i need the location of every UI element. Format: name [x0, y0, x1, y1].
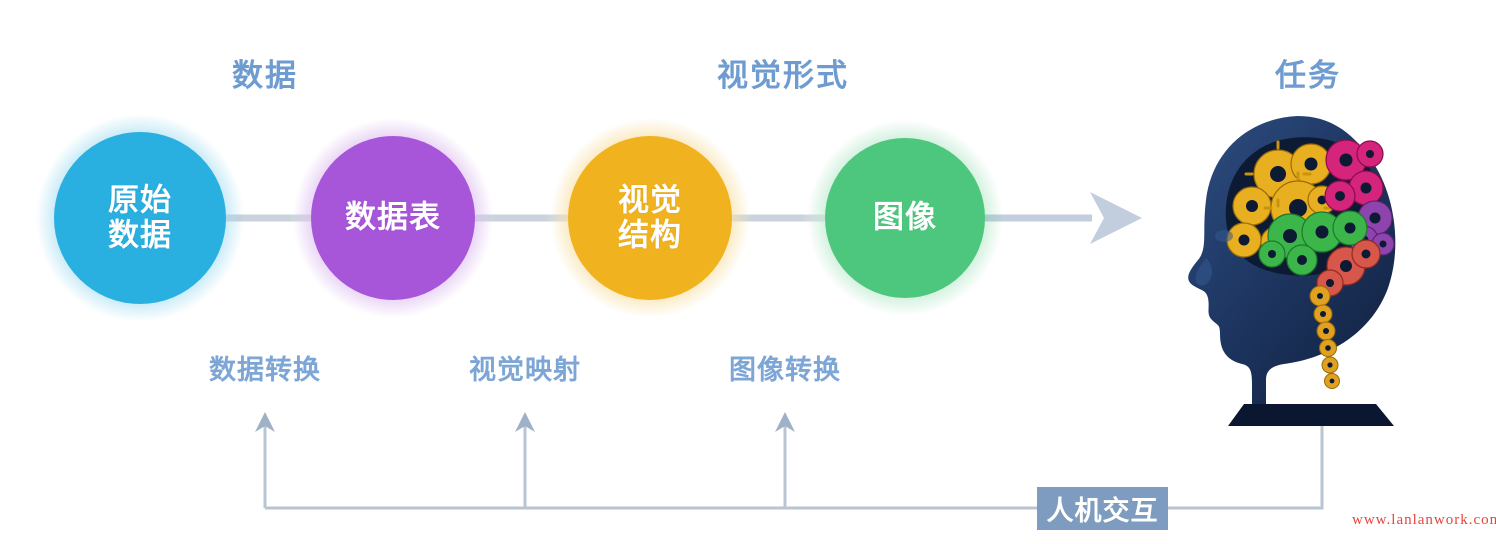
phase-label-task: 任务: [1275, 50, 1341, 95]
node-label-raw-data: 原始 数据: [108, 183, 172, 252]
transform-label-data-transform: 数据转换: [209, 348, 321, 387]
diagram-canvas: 数据 视觉形式 任务 原始 数据 数据表 视觉 结构 图像 数据转换 视觉映射 …: [0, 0, 1496, 544]
interaction-chip[interactable]: 人机交互: [1037, 487, 1168, 530]
node-label-visual-structure: 视觉 结构: [618, 183, 682, 252]
transform-label-visual-mapping: 视觉映射: [469, 348, 581, 387]
human-head-with-gear-brain-icon: [1180, 108, 1430, 428]
node-label-data-table: 数据表: [345, 201, 441, 236]
phase-label-visual-form: 视觉形式: [717, 50, 849, 95]
flow-arrow-icon: [1090, 192, 1142, 244]
phase-label-data: 数据: [232, 50, 298, 95]
node-label-image: 图像: [873, 201, 937, 236]
gear-cluster-magenta: [1325, 140, 1383, 211]
transform-label-image-transform: 图像转换: [729, 348, 841, 387]
watermark: www.lanlanwork.com: [1352, 512, 1496, 529]
head-base: [1228, 404, 1394, 426]
